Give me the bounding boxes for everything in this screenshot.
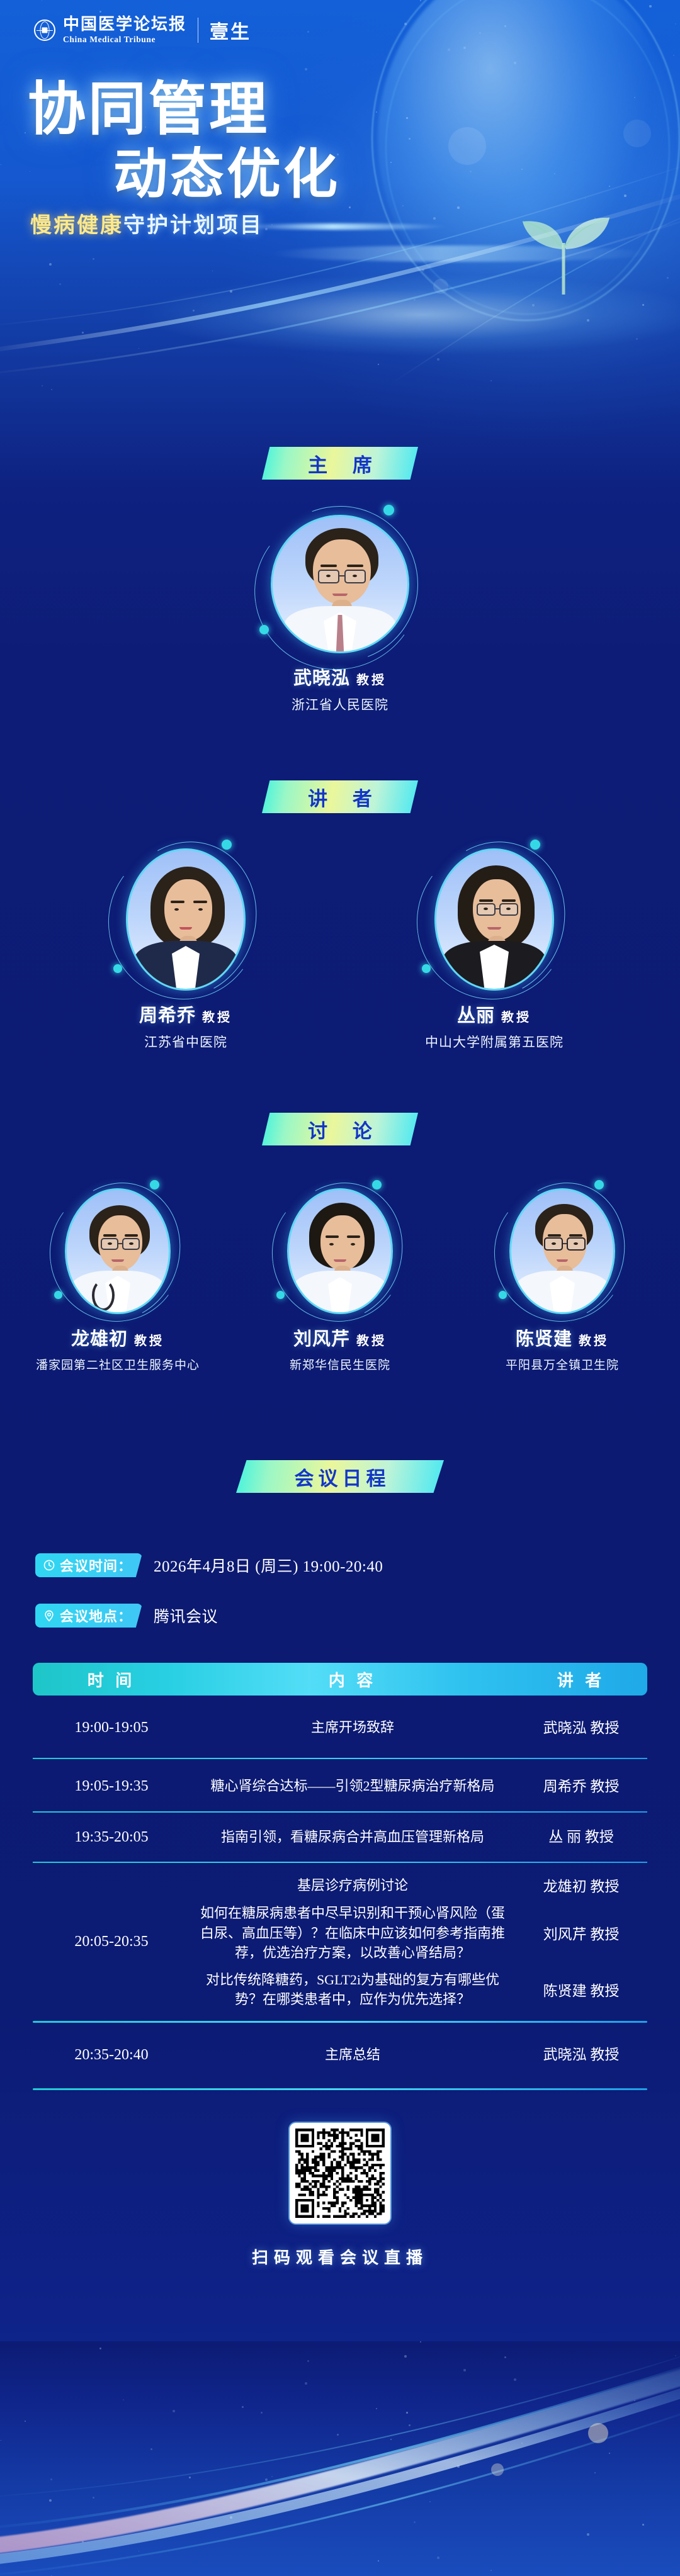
discussion-body: 基层诊疗病例讨论 龙雄初 教授 如何在糖尿病患者中尽早识别和干预心肾风险（蛋白尿… (190, 1870, 647, 2013)
avatar (65, 1188, 171, 1314)
hero-lower-glow (0, 271, 680, 397)
portrait-discussant-0 (67, 1190, 169, 1312)
chair-title: 教授 (356, 673, 387, 687)
globe-icon (34, 20, 55, 41)
orbit-node-top (383, 505, 394, 515)
avatar (126, 848, 246, 991)
footer-particle-dots (0, 2341, 680, 2576)
orbit-node-bottom (499, 1291, 507, 1299)
orbit-node-bottom (259, 625, 269, 634)
footer-background (0, 2341, 680, 2576)
section-banner-speakers: 讲 者 (262, 780, 418, 813)
discussant-name: 龙雄初 (71, 1329, 128, 1349)
discussant-org: 新郑华信民生医院 (236, 1356, 444, 1373)
section-banner-discussion: 讨 论 (262, 1113, 418, 1145)
row-content: 指南引领，看糖尿病合并高血压管理新格局 (190, 1827, 515, 1847)
chair-avatar-wrap (271, 515, 409, 653)
subtitle-highlight: 慢病健康 (30, 214, 123, 237)
discussion-title: 基层诊疗病例讨论 (190, 1872, 515, 1899)
portrait-discussant-1 (289, 1190, 391, 1312)
table-row: 19:35-20:05 指南引领，看糖尿病合并高血压管理新格局 丛 丽 教授 (33, 1813, 647, 1864)
title-line-1: 协同管理 (28, 81, 479, 138)
logo-divider (198, 18, 198, 43)
row-speaker: 周希乔 教授 (515, 1776, 647, 1797)
stethoscope-icon (92, 1280, 115, 1311)
speaker-title: 教授 (202, 1011, 232, 1025)
avatar (509, 1188, 615, 1314)
discussant-title: 教授 (356, 1334, 387, 1348)
speaker-name-row-0: 周希乔教授 (82, 1001, 290, 1027)
discussion-question-row: 如何在糖尿病患者中尽早识别和干预心肾风险（蛋白尿、高血压等）？在临床中应该如何参… (190, 1899, 647, 1966)
subtitle-rest: 守护计划项目 (123, 214, 263, 237)
agenda-header-time: 时 间 (33, 1668, 190, 1691)
section-title-speakers: 讲 者 (298, 783, 382, 811)
avatar (287, 1188, 393, 1314)
footer-streaks (0, 2341, 680, 2576)
meeting-time-label: 会议时间： (60, 1555, 132, 1575)
chair-org: 浙江省人民医院 (236, 695, 444, 714)
discussant-name-row-2: 陈贤建教授 (458, 1324, 666, 1351)
discussion-question-row: 对比传统降糖药，SGLT2i为基础的复方有哪些优势？在哪类患者中，应作为优先选择… (190, 1966, 647, 2013)
section-title-chair: 主 席 (298, 449, 382, 478)
agenda-table: 时 间 内 容 讲 者 19:00-19:05 主席开场致辞 武晓泓 教授 19… (33, 1663, 647, 2090)
meeting-place-label: 会议地点： (60, 1606, 132, 1626)
speaker-org: 江苏省中医院 (82, 1032, 290, 1051)
row-speaker: 武晓泓 教授 (515, 2044, 647, 2065)
title-line-2: 动态优化 (113, 147, 479, 201)
meeting-place-row: 会议地点： 腾讯会议 (35, 1604, 218, 1628)
row-content: 主席总结 (190, 2045, 515, 2065)
orbit-node-top (372, 1180, 382, 1190)
orbit-node-bottom (276, 1291, 285, 1299)
speaker-name: 周希乔 (139, 1006, 196, 1026)
discussion-question-speaker: 陈贤建 教授 (515, 1979, 647, 2000)
sub-brand-name: 壹生 (210, 16, 251, 44)
qr-caption: 扫码观看会议直播 (252, 2245, 428, 2268)
orbit-node-bottom (422, 964, 431, 973)
discussant-card-2: 陈贤建教授 平阳县万全镇卫生院 (458, 1188, 666, 1373)
portrait-discussant-2 (511, 1190, 613, 1312)
discussant-avatar-wrap-0 (65, 1188, 171, 1314)
sprout-icon (504, 189, 623, 296)
row-speaker: 武晓泓 教授 (515, 1718, 647, 1738)
row-time: 20:35-20:40 (33, 2044, 190, 2066)
orbit-node-top (222, 840, 232, 850)
brand-name-cn: 中国医学论坛报 (63, 16, 186, 33)
meeting-place-value: 腾讯会议 (154, 1604, 218, 1627)
table-bottom-divider (33, 2088, 647, 2090)
meeting-time-pill: 会议时间： (35, 1553, 142, 1577)
row-content: 主席开场致辞 (190, 1718, 515, 1738)
speaker-card-1: 丛丽教授 中山大学附属第五医院 (390, 848, 598, 1051)
orbit-node-top (150, 1180, 159, 1190)
row-time: 19:35-20:05 (33, 1826, 190, 1848)
brand-name-en: China Medical Tribune (63, 35, 186, 44)
meeting-time-value: 2026年4月8日 (周三) 19:00-20:40 (154, 1554, 383, 1577)
agenda-header-row: 时 间 内 容 讲 者 (33, 1663, 647, 1696)
location-pin-icon (43, 1609, 55, 1622)
row-time: 19:00-19:05 (33, 1717, 190, 1739)
discussion-question: 如何在糖尿病患者中尽早识别和干预心肾风险（蛋白尿、高血压等）？在临床中应该如何参… (190, 1899, 515, 1966)
discussant-org: 潘家园第二社区卫生服务中心 (14, 1356, 222, 1373)
chair-name: 武晓泓 (293, 668, 350, 689)
discussant-name: 刘风芹 (293, 1329, 350, 1349)
section-title-agenda: 会议日程 (290, 1463, 390, 1491)
avatar (271, 515, 409, 653)
section-banner-chair: 主 席 (262, 447, 418, 480)
discussant-name: 陈贤建 (516, 1329, 572, 1349)
discussion-block: 20:05-20:35 基层诊疗病例讨论 龙雄初 教授 如何在糖尿病患者中尽早识… (33, 1863, 647, 2020)
discussant-card-0: 龙雄初教授 潘家园第二社区卫生服务中心 (14, 1188, 222, 1373)
discussion-time: 20:05-20:35 (33, 1870, 190, 2013)
speaker-avatar-wrap-0 (126, 848, 246, 991)
section-banner-agenda: 会议日程 (236, 1460, 444, 1493)
brand-text: 中国医学论坛报 China Medical Tribune (63, 16, 186, 44)
avatar (434, 848, 554, 991)
table-row: 19:00-19:05 主席开场致辞 武晓泓 教授 (33, 1696, 647, 1759)
chair-card: 武晓泓教授 浙江省人民医院 (236, 515, 444, 714)
orbit-node-bottom (54, 1291, 62, 1299)
speaker-name: 丛丽 (457, 1006, 495, 1026)
orbit-node-top (530, 840, 540, 850)
discussion-title-row: 基层诊疗病例讨论 龙雄初 教授 (190, 1870, 647, 1899)
discussant-avatar-wrap-1 (287, 1188, 393, 1314)
discussion-question: 对比传统降糖药，SGLT2i为基础的复方有哪些优势？在哪类患者中，应作为优先选择… (190, 1966, 515, 2013)
meeting-time-row: 会议时间： 2026年4月8日 (周三) 19:00-20:40 (35, 1553, 383, 1577)
discussion-question-speaker: 刘风芹 教授 (515, 1922, 647, 1943)
row-speaker: 丛 丽 教授 (515, 1826, 647, 1847)
qr-card[interactable] (290, 2123, 390, 2224)
speaker-card-0: 周希乔教授 江苏省中医院 (82, 848, 290, 1051)
table-row: 20:35-20:40 主席总结 武晓泓 教授 (33, 2023, 647, 2076)
clock-icon (43, 1559, 55, 1572)
discussant-card-1: 刘风芹教授 新郑华信民生医院 (236, 1188, 444, 1373)
table-row: 19:05-19:35 糖心肾综合达标——引领2型糖尿病治疗新格局 周希乔 教授 (33, 1759, 647, 1813)
discussant-title: 教授 (579, 1334, 609, 1348)
qr-code-icon[interactable] (295, 2129, 385, 2218)
orbit-node-top (594, 1180, 604, 1190)
portrait-speaker-0 (128, 850, 244, 989)
brand-logo: 中国医学论坛报 China Medical Tribune 壹生 (34, 16, 251, 44)
agenda-header-speaker: 讲 者 (515, 1668, 647, 1691)
orbit-node-bottom (113, 964, 122, 973)
lens-flare-secondary (271, 245, 649, 262)
discussant-name-row-1: 刘风芹教授 (236, 1324, 444, 1351)
discussant-avatar-wrap-2 (509, 1188, 615, 1314)
portrait-chair (273, 517, 407, 651)
qr-block: 扫码观看会议直播 (252, 2123, 428, 2268)
discussant-title: 教授 (134, 1334, 164, 1348)
agenda-header-content: 内 容 (190, 1668, 515, 1691)
speaker-avatar-wrap-1 (434, 848, 554, 991)
discussant-name-row-0: 龙雄初教授 (14, 1324, 222, 1351)
discussant-org: 平阳县万全镇卫生院 (458, 1356, 666, 1373)
speaker-name-row-1: 丛丽教授 (390, 1001, 598, 1027)
portrait-speaker-1 (436, 850, 552, 989)
section-title-discussion: 讨 论 (298, 1115, 382, 1144)
discussion-title-speaker: 龙雄初 教授 (515, 1874, 647, 1896)
speaker-title: 教授 (501, 1011, 531, 1025)
row-content: 糖心肾综合达标——引领2型糖尿病治疗新格局 (190, 1776, 515, 1796)
row-time: 19:05-19:35 (33, 1775, 190, 1797)
hero-title-block: 协同管理 动态优化 慢病健康守护计划项目 (0, 81, 479, 237)
meeting-place-pill: 会议地点： (35, 1604, 142, 1628)
hero-subtitle: 慢病健康守护计划项目 (30, 215, 479, 237)
speaker-org: 中山大学附属第五医院 (390, 1032, 598, 1051)
